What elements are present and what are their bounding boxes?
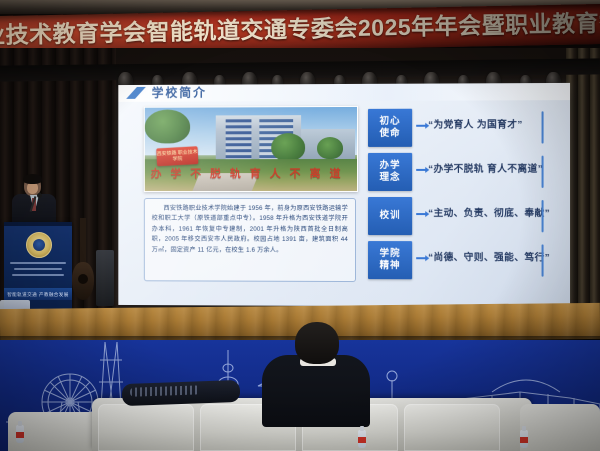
water-bottle: [358, 430, 366, 448]
microphone-icon: [37, 193, 42, 198]
slide-content: 学校简介 西安铁路 职业技术学院 办 学 不 脱 轨 育 人 不 离 道 西安铁…: [118, 83, 570, 307]
value-text: “主动、负责、彻底、奉献”: [428, 205, 539, 219]
value-label-badge: 学院 精神: [368, 241, 412, 279]
stage-side-object: [96, 250, 114, 306]
podium-strip-text: 智能轨道交通 产教融合发展: [4, 292, 72, 298]
value-accent-bar: [542, 156, 544, 188]
value-label-badge: 初心 使命: [368, 109, 412, 147]
school-intro-text: 西安铁路职业技术学院始建于 1956 年，前身为原西安铁路运输学校和职工大学（原…: [152, 204, 348, 256]
value-row: 校训 “主动、负责、彻底、奉献”: [368, 194, 548, 238]
value-label-line2: 精神: [380, 260, 401, 272]
sofa-right-section: [520, 404, 600, 451]
arrow-right-icon: [416, 213, 426, 215]
slide-header-bar: 学校简介: [118, 83, 570, 102]
value-label-line1: 学院: [380, 248, 401, 260]
speaker-hair: [23, 174, 42, 184]
value-accent-bar: [542, 244, 544, 276]
guitar-neck: [80, 218, 86, 266]
stage-curtain-right: [566, 48, 600, 323]
value-text: “办学不脱轨 育人不离道”: [428, 161, 539, 175]
draped-jacket: [122, 380, 241, 406]
projection-screen: 学校简介 西安铁路 职业技术学院 办 学 不 脱 轨 育 人 不 离 道 西安铁…: [118, 83, 570, 307]
value-label-line1: 办学: [380, 160, 401, 172]
sofa-cushion: [404, 404, 500, 451]
school-intro-box: 西安铁路职业技术学院始建于 1956 年，前身为原西安铁路运输学校和职工大学（原…: [144, 198, 356, 282]
conference-hall-photo: 业技术教育学会智能轨道交通专委会2025年年会暨职业教育智能轨道交通教 学校简介: [0, 0, 600, 451]
value-label-badge: 校训: [368, 197, 412, 235]
core-values-list: 初心 使命 “为党育人 为国育才” 办学 理念 “办学不脱轨 育人不离道”: [368, 105, 548, 283]
slide-header-mark-icon: [126, 87, 146, 99]
guitar-prop: [72, 218, 94, 304]
water-bottle: [16, 425, 24, 443]
value-label-line2: 使命: [380, 128, 401, 140]
value-text: “尚德、守则、强能、笃行”: [428, 249, 539, 263]
value-row: 学院 精神 “尚德、守则、强能、笃行”: [368, 238, 548, 283]
value-label-line1: 初心: [380, 116, 401, 128]
event-banner-text: 业技术教育学会智能轨道交通专委会2025年年会暨职业教育智能轨道交通教: [0, 7, 600, 52]
arrow-right-icon: [416, 169, 426, 171]
arrow-right-icon: [416, 125, 426, 127]
seated-attendee-head: [295, 322, 339, 364]
value-text: “为党育人 为国育才”: [428, 116, 539, 130]
photo-tree: [271, 133, 305, 161]
photo-tree: [145, 110, 190, 144]
value-accent-bar: [542, 200, 544, 232]
value-label-line2: 理念: [380, 172, 401, 184]
value-label-line1: 校训: [380, 210, 401, 222]
podium-text-line: [12, 274, 64, 276]
arrow-right-icon: [416, 257, 426, 259]
campus-photo: 西安铁路 职业技术学院 办 学 不 脱 轨 育 人 不 离 道: [144, 106, 358, 192]
photo-ground-slogan: 办 学 不 脱 轨 育 人 不 离 道: [151, 165, 349, 181]
podium-text-line: [14, 268, 62, 270]
school-emblem-icon: [26, 232, 52, 258]
guitar-soundhole: [78, 274, 88, 284]
sofa-cushion: [98, 404, 194, 451]
value-label-badge: 办学 理念: [368, 153, 412, 191]
photo-signboard-text: 西安铁路 职业技术学院: [156, 146, 198, 163]
photo-tree: [317, 137, 343, 159]
water-bottle: [520, 430, 528, 448]
photo-red-signboard: 西安铁路 职业技术学院: [156, 146, 198, 166]
podium-text-line: [10, 262, 66, 264]
value-row: 初心 使命 “为党育人 为国育才”: [368, 105, 548, 150]
value-row: 办学 理念 “办学不脱轨 育人不离道”: [368, 150, 548, 194]
slide-header-title: 学校简介: [152, 85, 207, 102]
value-accent-bar: [542, 111, 544, 143]
